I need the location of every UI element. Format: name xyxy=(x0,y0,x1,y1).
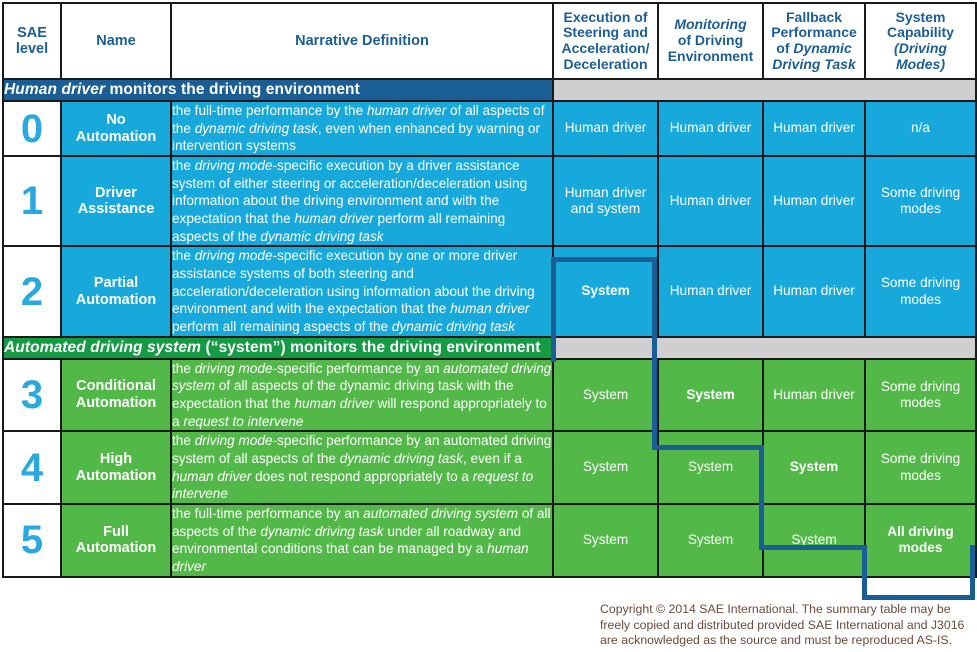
execution-value: System xyxy=(553,431,658,504)
level-name: ConditionalAutomation xyxy=(61,359,171,432)
capability-value: All drivingmodes xyxy=(865,504,976,577)
monitoring-value: System xyxy=(658,359,763,432)
column-header-name: Name xyxy=(61,3,171,79)
narrative-definition-text: the full-time performance by the human d… xyxy=(171,101,553,156)
monitoring-value: Human driver xyxy=(658,246,763,336)
capability-value: Some drivingmodes xyxy=(865,431,976,504)
section-band-human-driver-label: Human driver monitors the driving enviro… xyxy=(3,79,553,101)
narrative-definition-text: the full-time performance by an automate… xyxy=(171,504,553,577)
sae-levels-table-figure: SAElevelNameNarrative DefinitionExecutio… xyxy=(0,2,977,652)
monitoring-value: Human driver xyxy=(658,101,763,156)
monitoring-value: System xyxy=(658,431,763,504)
level-name: DriverAssistance xyxy=(61,156,171,246)
column-header-execution-of-steering-and-acceleration-deceleration: Execution ofSteering andAcceleration/Dec… xyxy=(553,3,658,79)
sae-level-number: 2 xyxy=(3,246,61,336)
narrative-definition-text: the driving mode-specific execution by a… xyxy=(171,156,553,246)
sae-level-number: 0 xyxy=(3,101,61,156)
execution-value: System xyxy=(553,504,658,577)
column-header-fallback-performance-of-dynamic-driving-task: FallbackPerformanceof DynamicDriving Tas… xyxy=(763,3,865,79)
level-name: HighAutomation xyxy=(61,431,171,504)
narrative-definition-text: the driving mode-specific execution by o… xyxy=(171,246,553,336)
capability-value: Some drivingmodes xyxy=(865,156,976,246)
sae-level-number: 5 xyxy=(3,504,61,577)
level-name: PartialAutomation xyxy=(61,246,171,336)
capability-value: Some drivingmodes xyxy=(865,359,976,432)
monitoring-value: Human driver xyxy=(658,156,763,246)
capability-value: n/a xyxy=(865,101,976,156)
section-band-automated-system: Automated driving system (“system”) moni… xyxy=(3,337,976,359)
sae-level-number: 4 xyxy=(3,431,61,504)
table-row: 4HighAutomationthe driving mode-specific… xyxy=(3,431,976,504)
fallback-value: System xyxy=(763,504,865,577)
table-row: 1DriverAssistancethe driving mode-specif… xyxy=(3,156,976,246)
column-header-system-capability-driving-modes: SystemCapability(DrivingModes) xyxy=(865,3,976,79)
fallback-value: Human driver xyxy=(763,101,865,156)
narrative-definition-text: the driving mode-specific performance by… xyxy=(171,431,553,504)
table-row: 2PartialAutomationthe driving mode-speci… xyxy=(3,246,976,336)
sae-level-number: 1 xyxy=(3,156,61,246)
sae-automation-levels-table: SAElevelNameNarrative DefinitionExecutio… xyxy=(2,2,977,578)
table-row: 3ConditionalAutomationthe driving mode-s… xyxy=(3,359,976,432)
level-name: NoAutomation xyxy=(61,101,171,156)
fallback-value: Human driver xyxy=(763,156,865,246)
execution-value: System xyxy=(553,246,658,336)
column-header-sae-level: SAElevel xyxy=(3,3,61,79)
fallback-value: Human driver xyxy=(763,359,865,432)
capability-value: Some drivingmodes xyxy=(865,246,976,336)
level-name: FullAutomation xyxy=(61,504,171,577)
sae-level-number: 3 xyxy=(3,359,61,432)
section-band-automated-system-spacer xyxy=(553,337,976,359)
section-band-automated-system-label: Automated driving system (“system”) moni… xyxy=(3,337,553,359)
table-row: 0NoAutomationthe full-time performance b… xyxy=(3,101,976,156)
column-header-monitoring-of-driving-environment: Monitoringof DrivingEnvironment xyxy=(658,3,763,79)
fallback-value: System xyxy=(763,431,865,504)
table-header-row: SAElevelNameNarrative DefinitionExecutio… xyxy=(3,3,976,79)
section-band-human-driver-spacer xyxy=(553,79,976,101)
execution-value: Human driver xyxy=(553,101,658,156)
copyright-notice: Copyright © 2014 SAE International. The … xyxy=(600,602,975,649)
monitoring-value: System xyxy=(658,504,763,577)
table-row: 5FullAutomationthe full-time performance… xyxy=(3,504,976,577)
fallback-value: Human driver xyxy=(763,246,865,336)
section-band-human-driver: Human driver monitors the driving enviro… xyxy=(3,79,976,101)
narrative-definition-text: the driving mode-specific performance by… xyxy=(171,359,553,432)
execution-value: Human driverand system xyxy=(553,156,658,246)
execution-value: System xyxy=(553,359,658,432)
column-header-narrative-definition: Narrative Definition xyxy=(171,3,553,79)
